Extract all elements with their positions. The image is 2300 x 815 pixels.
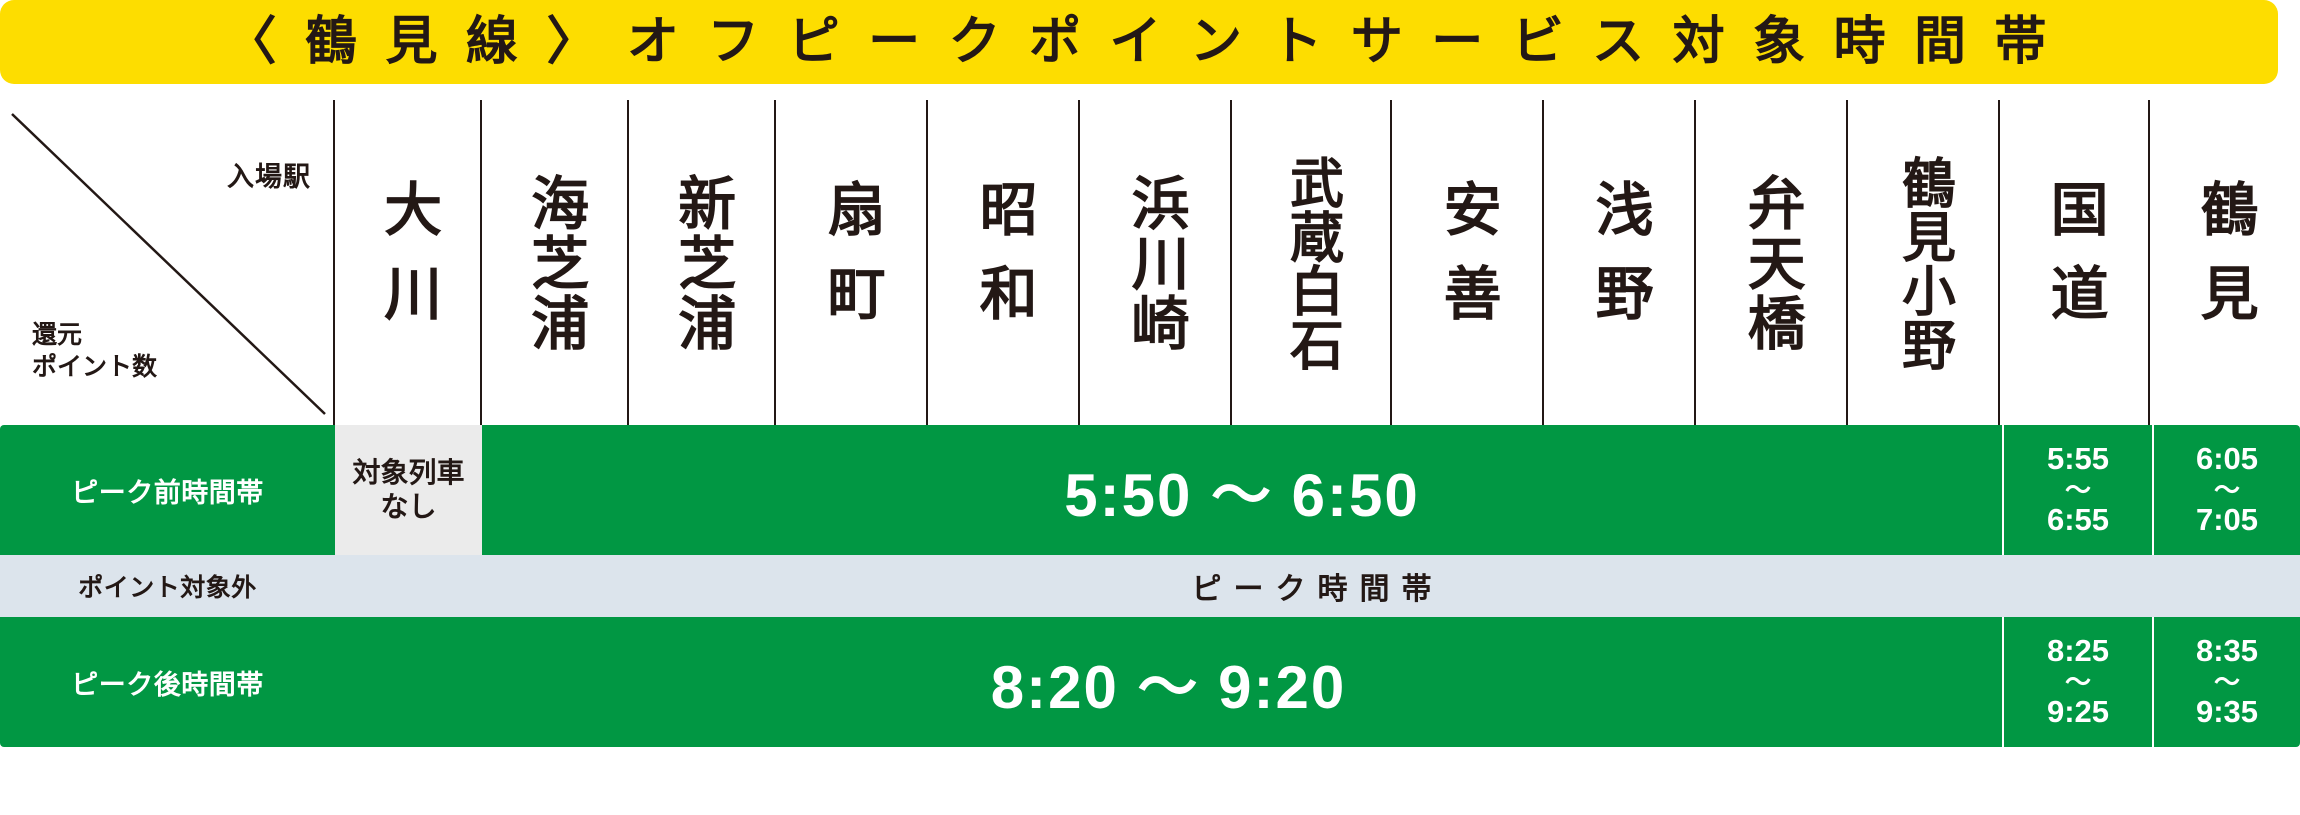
station-name-label: 浅野 xyxy=(1589,179,1648,347)
time-tilde: ～ xyxy=(2214,669,2240,695)
page-title: 〈 鶴 見 線 〉 オ フ ピ ー ク ポ イ ン ト サ ー ビ ス 対 象 … xyxy=(225,16,2054,68)
time-to: 6:55 xyxy=(2047,503,2109,538)
station-name-label: 武蔵白石 xyxy=(1283,155,1338,371)
cell-pre-peak-tsurumi: 6:05 ～ 7:05 xyxy=(2152,425,2300,555)
time-tilde: ～ xyxy=(2214,477,2240,503)
no-train-line2: なし xyxy=(352,490,464,524)
title-bar: 〈 鶴 見 線 〉 オ フ ピ ー ク ポ イ ン ト サ ー ビ ス 対 象 … xyxy=(0,0,2278,84)
station-header-anzen: 安善 xyxy=(1392,100,1544,425)
time-to: 9:35 xyxy=(2196,695,2258,730)
row-body-peak: ピーク時間帯 xyxy=(335,555,2300,617)
cell-okawa-no-train: 対象列車 なし xyxy=(335,425,482,555)
time-to: 7:05 xyxy=(2196,503,2258,538)
row-label-pre-peak: ピーク前時間帯 xyxy=(0,425,335,555)
time-tilde: ～ xyxy=(2065,477,2091,503)
station-name-label: 海芝浦 xyxy=(525,173,584,353)
time-from: 8:35 xyxy=(2196,634,2258,669)
station-name-label: 弁天橋 xyxy=(1741,173,1800,353)
row-peak: ポイント対象外 ピーク時間帯 xyxy=(0,555,2300,617)
header-axis-label-points: 還元 ポイント数 xyxy=(32,319,157,383)
timetable: 入場駅 還元 ポイント数 大川 海芝浦 新芝浦 扇町 昭和 xyxy=(0,100,2300,815)
station-header-shin-shibaura: 新芝浦 xyxy=(629,100,776,425)
station-name-label: 扇町 xyxy=(821,179,880,347)
offpeak-point-service-chart: 〈 鶴 見 線 〉 オ フ ピ ー ク ポ イ ン ト サ ー ビ ス 対 象 … xyxy=(0,0,2300,815)
time-from: 8:25 xyxy=(2047,634,2109,669)
station-header-kokudo: 国道 xyxy=(2000,100,2150,425)
time-tilde: ～ xyxy=(2065,669,2091,695)
table-header-row: 入場駅 還元 ポイント数 大川 海芝浦 新芝浦 扇町 昭和 xyxy=(0,100,2300,425)
row-post-peak: ピーク後時間帯 8:20 ～ 9:20 8:25 ～ 9:25 8:35 ～ 9… xyxy=(0,617,2300,747)
cell-post-peak-main-span: 8:20 ～ 9:20 xyxy=(335,617,2002,747)
row-label-post-peak: ピーク後時間帯 xyxy=(0,617,335,747)
row-label-peak-not-eligible: ポイント対象外 xyxy=(0,555,335,617)
station-header-showa: 昭和 xyxy=(928,100,1080,425)
station-header-ogimachi: 扇町 xyxy=(776,100,928,425)
time-from: 6:05 xyxy=(2196,442,2258,477)
cell-post-peak-tsurumi: 8:35 ～ 9:35 xyxy=(2152,617,2300,747)
station-header-hamakawasaki: 浜川崎 xyxy=(1080,100,1232,425)
station-header-musashi-shiraishi: 武蔵白石 xyxy=(1232,100,1392,425)
points-label-line2: ポイント数 xyxy=(32,351,157,383)
peak-period-text: ピーク時間帯 xyxy=(335,555,2300,617)
time-from: 5:55 xyxy=(2047,442,2109,477)
station-name-label: 大川 xyxy=(378,179,437,347)
cell-pre-peak-main-span: 5:50 ～ 6:50 xyxy=(482,425,2002,555)
station-name-label: 浜川崎 xyxy=(1125,173,1184,353)
station-name-label: 国道 xyxy=(2044,179,2103,347)
no-train-line1: 対象列車 xyxy=(352,456,464,490)
cell-post-peak-kokudo: 8:25 ～ 9:25 xyxy=(2002,617,2152,747)
points-label-line1: 還元 xyxy=(32,319,157,351)
header-corner-cell: 入場駅 還元 ポイント数 xyxy=(0,100,335,425)
header-axis-label-entry-station: 入場駅 xyxy=(227,155,311,194)
station-name-label: 安善 xyxy=(1437,179,1496,347)
station-name-label: 鶴見 xyxy=(2194,179,2253,347)
station-header-asano: 浅野 xyxy=(1544,100,1696,425)
station-header-umishibaura: 海芝浦 xyxy=(482,100,629,425)
station-header-bentenbashi: 弁天橋 xyxy=(1696,100,1848,425)
row-body-pre-peak: 対象列車 なし 5:50 ～ 6:50 5:55 ～ 6:55 6:05 ～ 7… xyxy=(335,425,2300,555)
station-header-okawa: 大川 xyxy=(335,100,482,425)
row-pre-peak: ピーク前時間帯 対象列車 なし 5:50 ～ 6:50 5:55 ～ 6:55 … xyxy=(0,425,2300,555)
station-name-label: 新芝浦 xyxy=(672,173,731,353)
station-header-tsurumi: 鶴見 xyxy=(2150,100,2298,425)
station-name-label: 鶴見小野 xyxy=(1895,155,1950,371)
row-body-post-peak: 8:20 ～ 9:20 8:25 ～ 9:25 8:35 ～ 9:35 xyxy=(335,617,2300,747)
time-to: 9:25 xyxy=(2047,695,2109,730)
station-header-tsurumi-ono: 鶴見小野 xyxy=(1848,100,2000,425)
station-name-label: 昭和 xyxy=(973,179,1032,347)
cell-pre-peak-kokudo: 5:55 ～ 6:55 xyxy=(2002,425,2152,555)
